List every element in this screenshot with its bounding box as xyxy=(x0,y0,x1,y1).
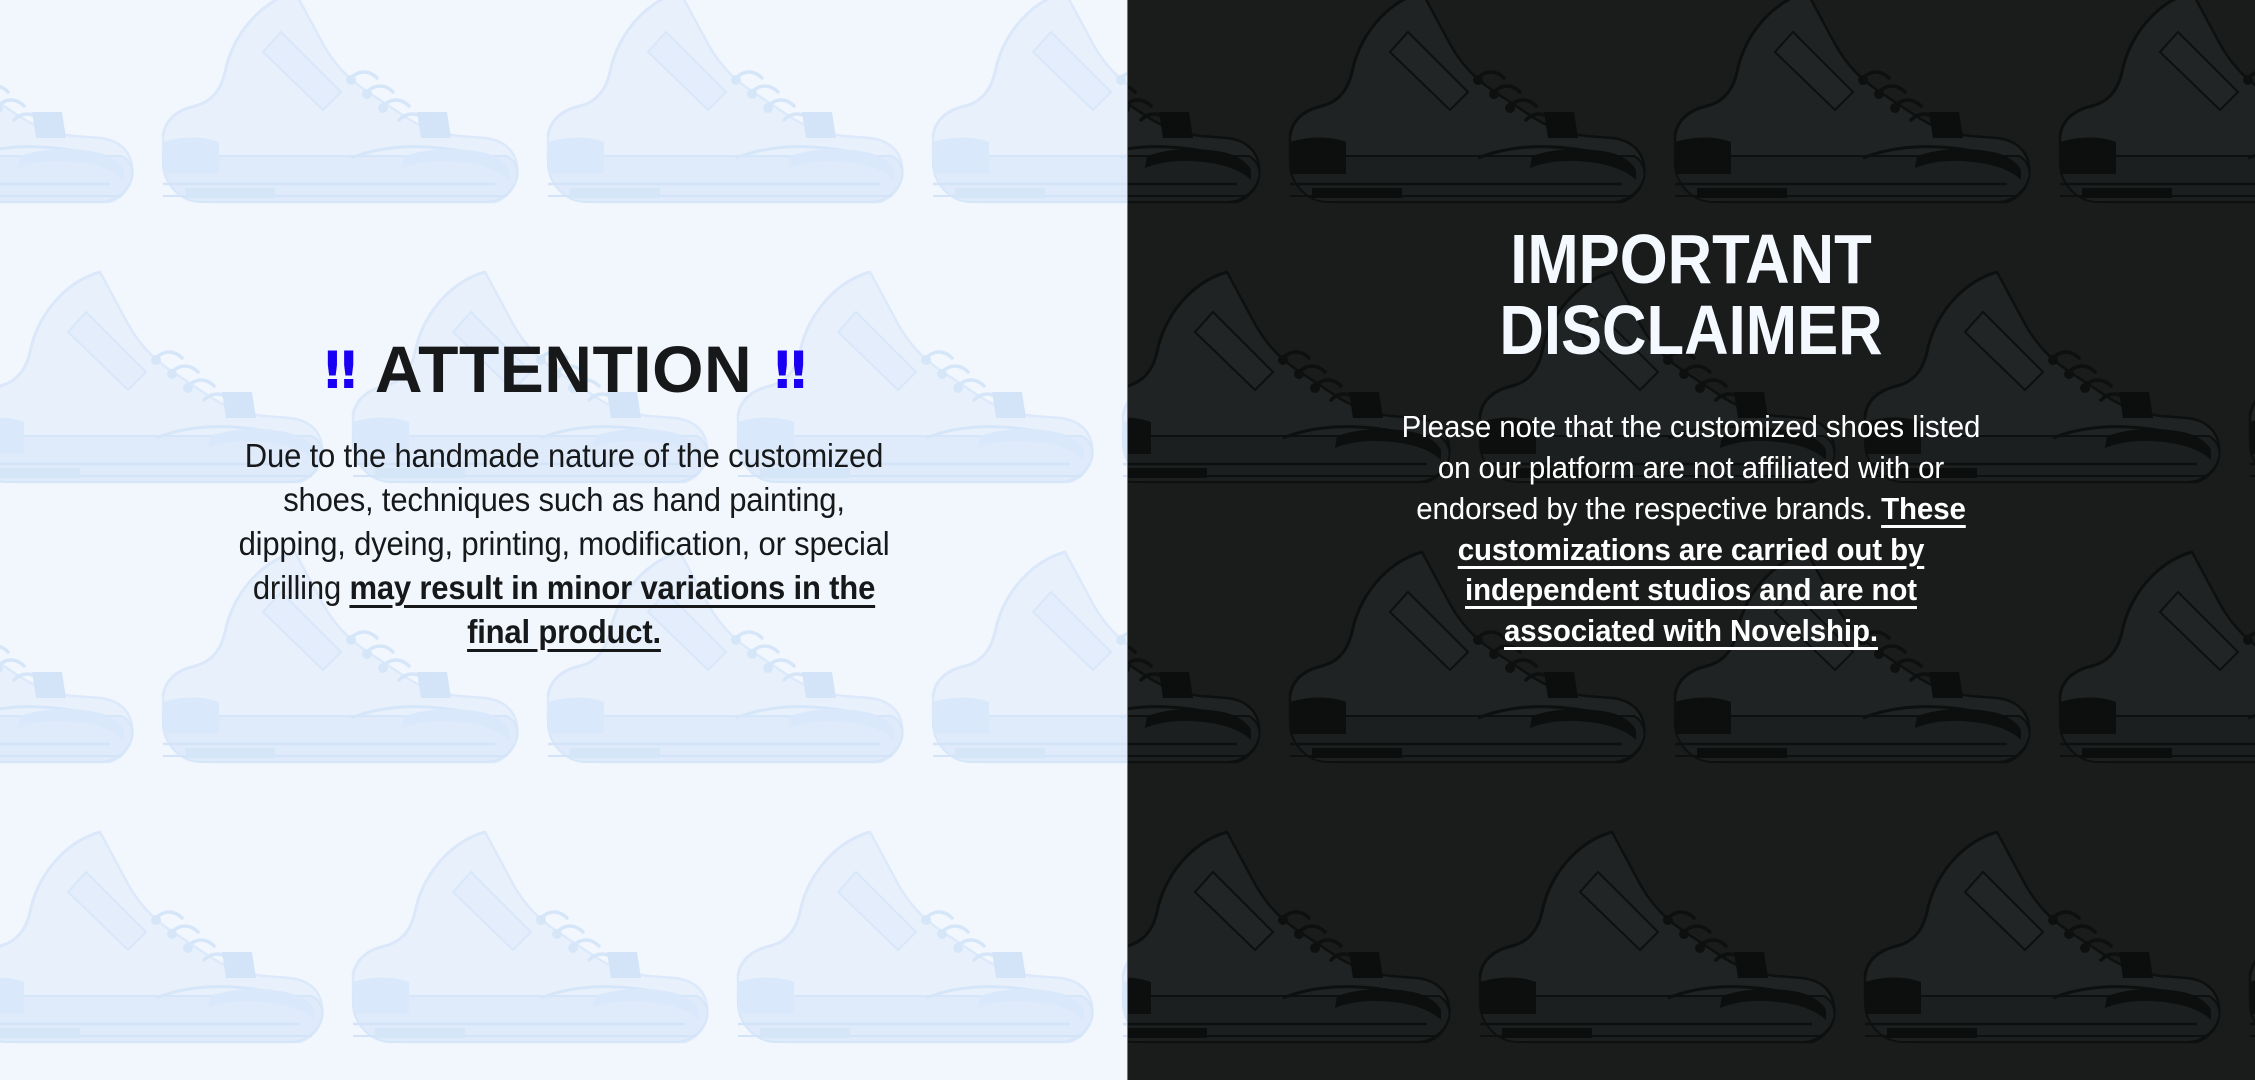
attention-body: Due to the handmade nature of the custom… xyxy=(235,434,893,653)
attention-body-emphasis: may result in minor variations in the fi… xyxy=(349,569,875,650)
attention-heading-text: ATTENTION xyxy=(353,336,774,402)
promo-banner: ‼ATTENTION‼ Due to the handmade nature o… xyxy=(0,0,2255,1080)
disclaimer-heading-line1: IMPORTANT xyxy=(1195,224,2188,295)
disclaimer-heading: IMPORTANT DISCLAIMER xyxy=(1195,224,2188,367)
panel-divider xyxy=(1127,0,1128,1080)
attention-content: ‼ATTENTION‼ Due to the handmade nature o… xyxy=(0,0,1127,653)
attention-heading: ‼ATTENTION‼ xyxy=(0,336,1127,402)
disclaimer-body: Please note that the customized shoes li… xyxy=(1387,407,1995,652)
disclaimer-content: IMPORTANT DISCLAIMER Please note that th… xyxy=(1127,0,2255,652)
attention-panel: ‼ATTENTION‼ Due to the handmade nature o… xyxy=(0,0,1127,1080)
double-exclamation-icon-right: ‼ xyxy=(774,345,803,397)
disclaimer-panel: IMPORTANT DISCLAIMER Please note that th… xyxy=(1127,0,2255,1080)
disclaimer-heading-line2: DISCLAIMER xyxy=(1195,295,2188,366)
double-exclamation-icon-left: ‼ xyxy=(324,345,353,397)
